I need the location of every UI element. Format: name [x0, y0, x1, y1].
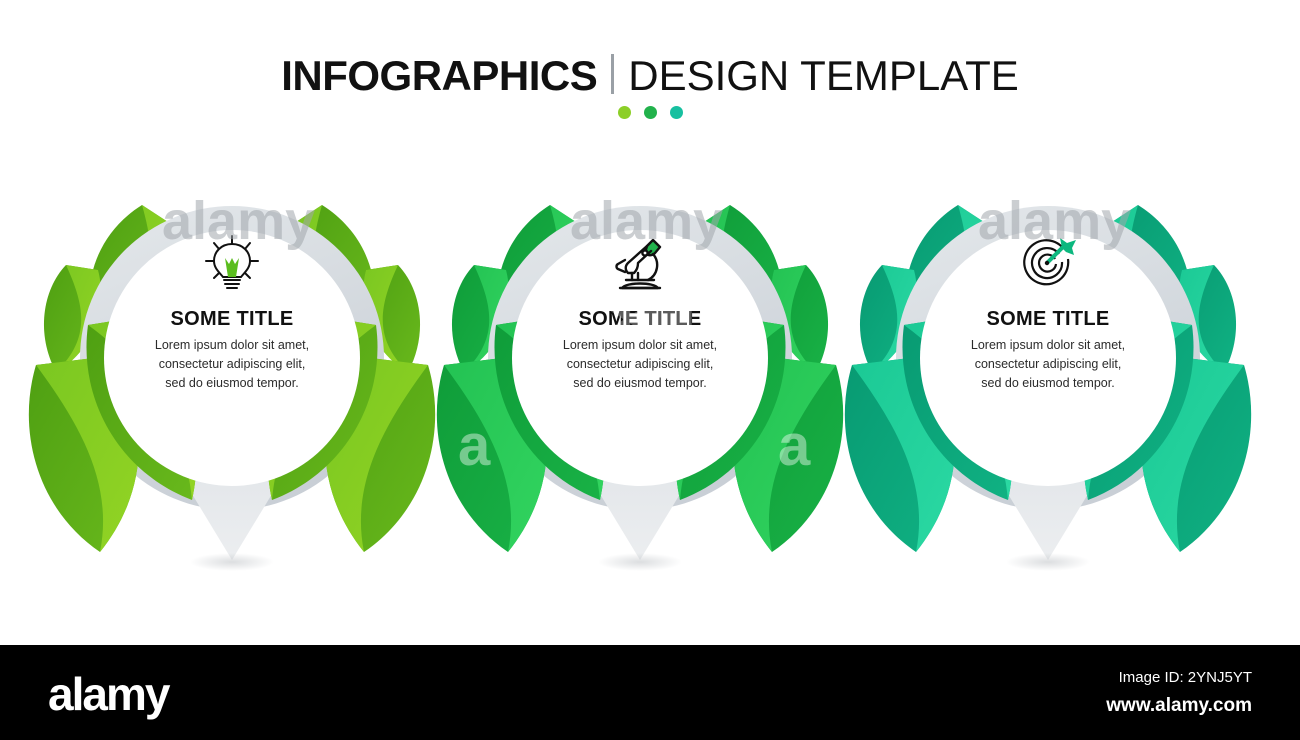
infographic-panel-3[interactable]: SOME TITLE Lorem ipsum dolor sit amet, c… — [838, 160, 1258, 590]
pin-shadow — [190, 553, 274, 571]
alamy-footer-bar: alamy Image ID: 2YNJ5YT www.alamy.com — [0, 645, 1300, 740]
dot-green-icon — [644, 106, 657, 119]
page-header: INFOGRAPHICS DESIGN TEMPLATE — [0, 0, 1300, 140]
dot-teal-icon — [670, 106, 683, 119]
infographic-panel-2[interactable]: SOME TITLE SOME TITLE Lorem ipsum dolor … — [430, 160, 850, 590]
card-circle — [512, 230, 768, 486]
pin-shadow — [598, 553, 682, 571]
title-bold-part: INFOGRAPHICS — [281, 52, 597, 100]
title-light-part: DESIGN TEMPLATE — [628, 52, 1019, 100]
dot-yellow-green-icon — [618, 106, 631, 119]
infographic-panel-1[interactable]: SOME TITLE Lorem ipsum dolor sit amet, c… — [22, 160, 442, 590]
card-circle — [104, 230, 360, 486]
alamy-logo: alamy — [48, 667, 168, 721]
header-dots — [618, 106, 683, 119]
card-circle — [920, 230, 1176, 486]
title-divider — [611, 54, 614, 94]
alamy-url-label: www.alamy.com — [1106, 695, 1252, 717]
infographic-board: SOME TITLE Lorem ipsum dolor sit amet, c… — [0, 150, 1300, 620]
page-title: INFOGRAPHICS DESIGN TEMPLATE — [281, 50, 1019, 100]
pin-shadow — [1006, 553, 1090, 571]
image-id-label: Image ID: 2YNJ5YT — [1119, 669, 1252, 686]
